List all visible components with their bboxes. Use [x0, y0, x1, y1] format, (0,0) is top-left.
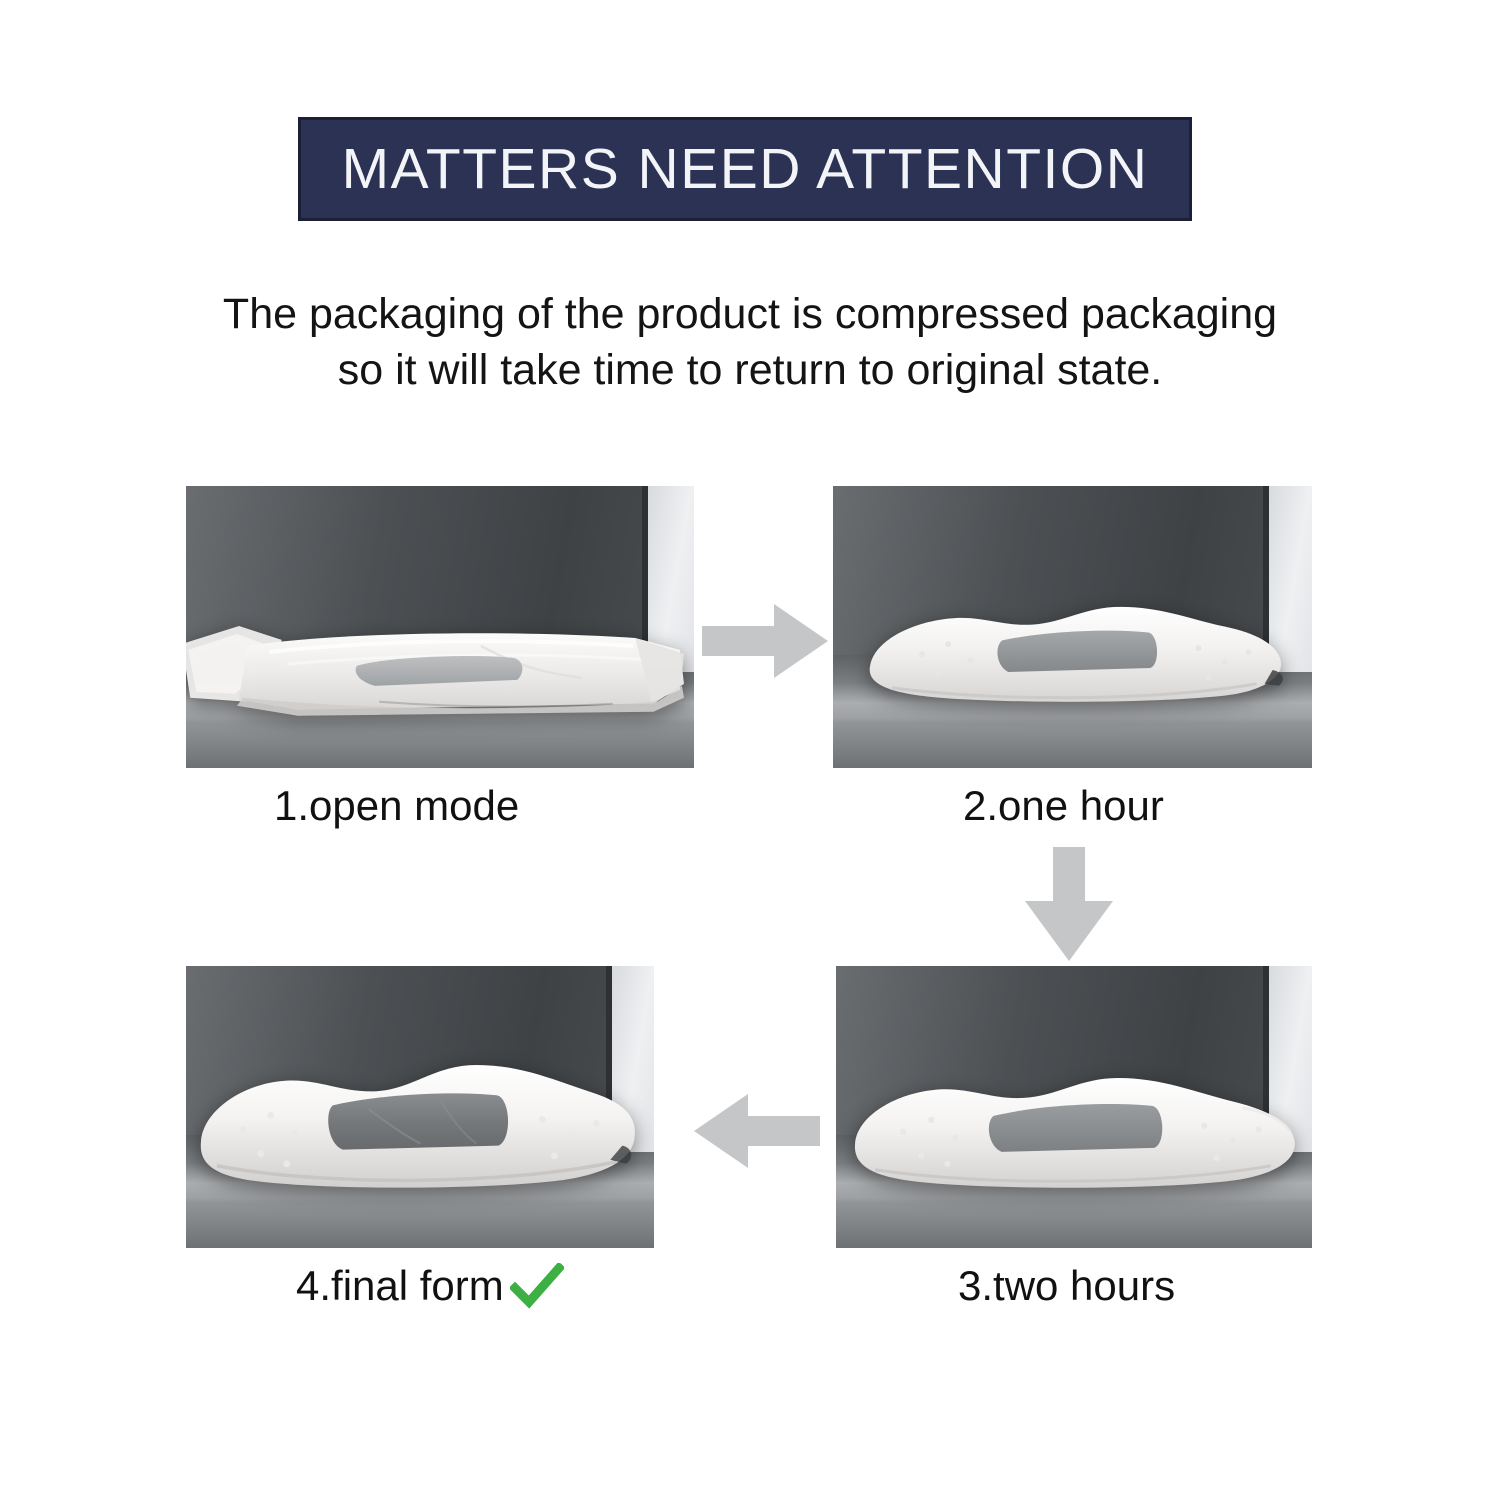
step-1-caption: 1.open mode — [274, 782, 519, 830]
step-4-caption-text: 4.final form — [296, 1262, 504, 1310]
step-3-photo — [836, 966, 1312, 1248]
step-1-caption-text: 1.open mode — [274, 782, 519, 830]
title-banner: MATTERS NEED ATTENTION — [298, 117, 1192, 221]
step-4-final-form: 4.final form — [186, 966, 654, 1248]
page-title: MATTERS NEED ATTENTION — [342, 136, 1149, 202]
step-3-caption-text: 3.two hours — [958, 1262, 1175, 1310]
green-check-icon — [510, 1263, 564, 1309]
step-2-one-hour: 2.one hour — [833, 486, 1312, 768]
subtitle-line-1: The packaging of the product is compress… — [223, 290, 1277, 338]
step-3-caption: 3.two hours — [958, 1262, 1175, 1310]
nearly-full-pillow-illustration — [841, 1068, 1303, 1198]
expanding-pillow-illustration — [852, 593, 1293, 711]
subtitle-text: The packaging of the product is compress… — [150, 286, 1350, 398]
step-3-two-hours: 3.two hours — [836, 966, 1312, 1248]
final-pillow-illustration — [191, 1059, 640, 1200]
step-1-open-mode: 1.open mode — [186, 486, 694, 768]
arrow-left-icon — [690, 1088, 822, 1174]
step-2-caption-text: 2.one hour — [963, 782, 1164, 830]
step-2-photo — [833, 486, 1312, 768]
step-1-photo — [186, 486, 694, 768]
compressed-pillow-illustration — [186, 610, 694, 740]
step-4-photo — [186, 966, 654, 1248]
arrow-right-icon — [700, 598, 830, 684]
step-4-caption: 4.final form — [296, 1262, 564, 1310]
arrow-down-icon — [1020, 845, 1118, 963]
step-2-caption: 2.one hour — [963, 782, 1164, 830]
subtitle-line-2: so it will take time to return to origin… — [150, 342, 1350, 398]
